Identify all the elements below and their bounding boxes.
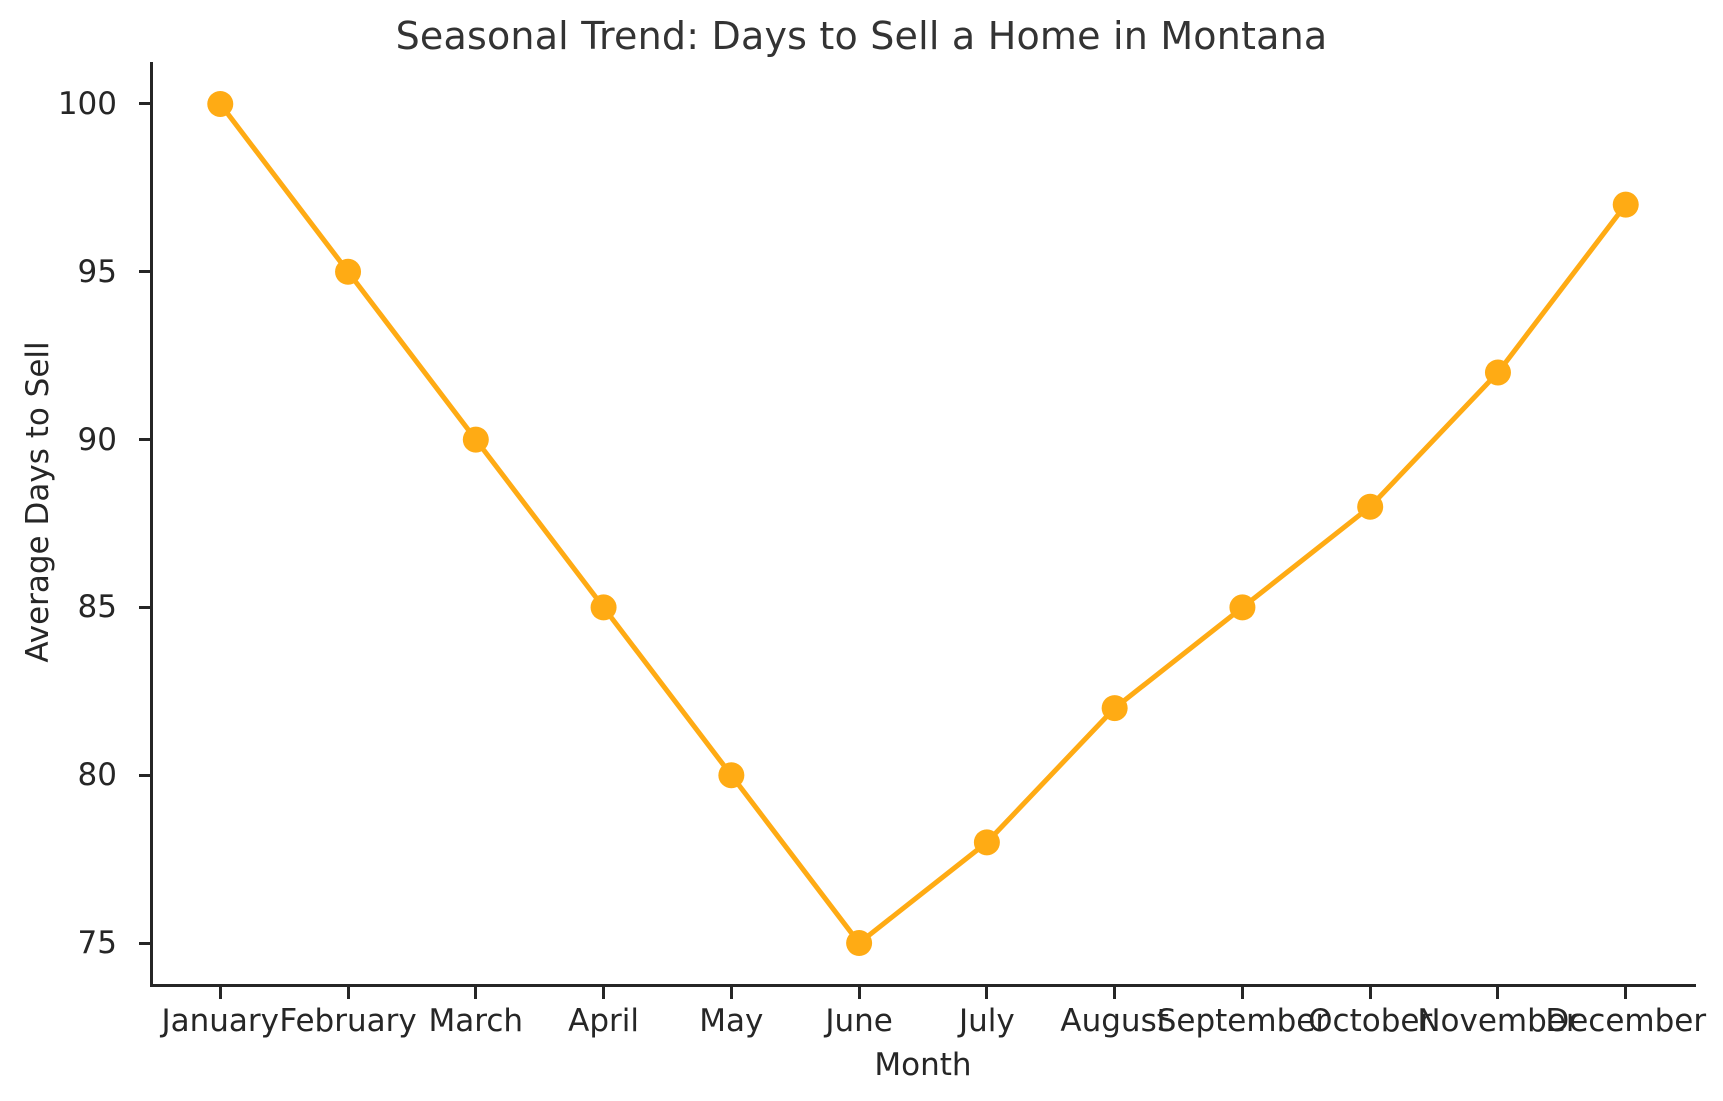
y-axis-spine bbox=[150, 62, 153, 987]
data-point-marker bbox=[335, 259, 361, 285]
y-tick-label: 100 bbox=[58, 86, 131, 122]
x-tick-mark bbox=[1624, 987, 1627, 999]
x-tick-label: August bbox=[1060, 1003, 1169, 1039]
x-tick-mark bbox=[1496, 987, 1499, 999]
x-tick-label: February bbox=[279, 1003, 416, 1039]
y-tick-mark bbox=[139, 942, 151, 945]
y-tick-label: 80 bbox=[78, 757, 131, 793]
y-tick-mark bbox=[139, 438, 151, 441]
x-axis-label: Month bbox=[150, 1047, 1696, 1083]
y-tick-mark bbox=[139, 270, 151, 273]
x-tick-mark bbox=[1241, 987, 1244, 999]
x-tick-mark bbox=[347, 987, 350, 999]
line-series-plot bbox=[0, 0, 1723, 1101]
x-tick-mark bbox=[985, 987, 988, 999]
x-tick-label: May bbox=[699, 1003, 763, 1039]
x-tick-label: October bbox=[1308, 1003, 1432, 1039]
data-point-marker bbox=[1613, 192, 1639, 218]
y-axis-label: Average Days to Sell bbox=[20, 182, 56, 822]
data-point-marker bbox=[1485, 359, 1511, 385]
data-point-marker bbox=[463, 427, 489, 453]
data-point-marker bbox=[974, 829, 1000, 855]
y-tick-label: 85 bbox=[78, 589, 131, 625]
x-tick-mark bbox=[219, 987, 222, 999]
series-markers bbox=[207, 91, 1638, 956]
y-tick-label: 75 bbox=[78, 925, 131, 961]
x-tick-mark bbox=[602, 987, 605, 999]
x-tick-label: March bbox=[429, 1003, 524, 1039]
chart-figure: Seasonal Trend: Days to Sell a Home in M… bbox=[0, 0, 1723, 1101]
chart-title: Seasonal Trend: Days to Sell a Home in M… bbox=[0, 14, 1723, 58]
data-point-marker bbox=[718, 762, 744, 788]
x-tick-mark bbox=[858, 987, 861, 999]
data-point-marker bbox=[1357, 494, 1383, 520]
x-tick-label: January bbox=[162, 1003, 280, 1039]
data-point-marker bbox=[1102, 695, 1128, 721]
x-tick-label: April bbox=[568, 1003, 639, 1039]
y-tick-mark bbox=[139, 102, 151, 105]
x-tick-label: September bbox=[1157, 1003, 1328, 1039]
y-tick-mark bbox=[139, 606, 151, 609]
x-tick-mark bbox=[1369, 987, 1372, 999]
y-tick-label: 95 bbox=[78, 254, 131, 290]
data-point-marker bbox=[591, 594, 617, 620]
x-tick-mark bbox=[1113, 987, 1116, 999]
data-point-marker bbox=[1229, 594, 1255, 620]
x-axis-spine bbox=[150, 984, 1696, 987]
x-tick-mark bbox=[474, 987, 477, 999]
x-tick-mark bbox=[730, 987, 733, 999]
x-tick-label: June bbox=[825, 1003, 893, 1039]
series-line bbox=[220, 104, 1625, 943]
y-tick-label: 90 bbox=[78, 422, 131, 458]
x-tick-label: July bbox=[959, 1003, 1015, 1039]
data-point-marker bbox=[207, 91, 233, 117]
x-tick-label: December bbox=[1545, 1003, 1706, 1039]
y-tick-mark bbox=[139, 774, 151, 777]
data-point-marker bbox=[846, 930, 872, 956]
